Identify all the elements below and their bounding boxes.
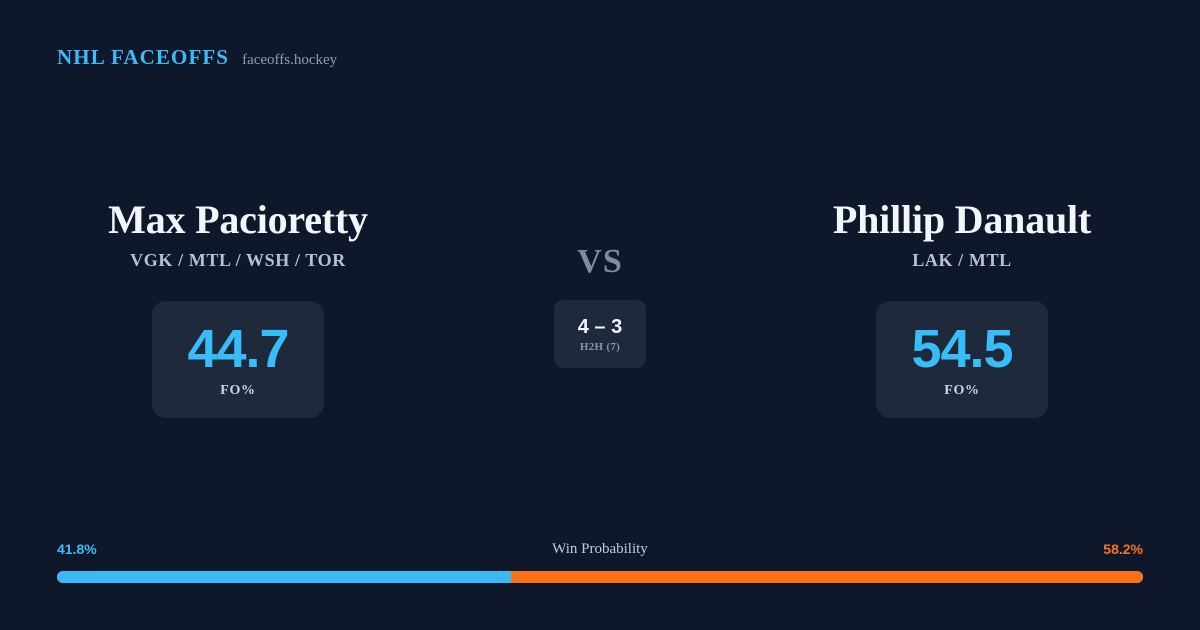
versus-label: VS	[577, 244, 622, 280]
player-card-left: Max Pacioretty VGK / MTL / WSH / TOR 44.…	[0, 196, 476, 418]
player-card-right: Phillip Danault LAK / MTL 54.5 FO%	[724, 196, 1200, 418]
player-name-right: Phillip Danault	[833, 196, 1091, 244]
matchup-graphic: NHL FACEOFFS faceoffs.hockey Max Paciore…	[0, 0, 1200, 630]
stat-card-right: 54.5 FO%	[876, 301, 1048, 418]
win-probability-right-percent: 58.2%	[1103, 541, 1143, 557]
head-to-head-score: 4 – 3	[578, 316, 622, 338]
head-to-head-card: 4 – 3 H2H (7)	[554, 300, 646, 368]
win-probability-bar-left-fill	[57, 571, 511, 583]
win-probability-bar-right-fill	[511, 571, 1143, 583]
faceoff-percent-value-right: 54.5	[911, 321, 1012, 377]
matchup-row: Max Pacioretty VGK / MTL / WSH / TOR 44.…	[0, 196, 1200, 418]
brand-logo-text: NHL FACEOFFS	[57, 45, 229, 70]
player-teams-right: LAK / MTL	[912, 250, 1011, 271]
stat-card-left: 44.7 FO%	[152, 301, 324, 418]
win-probability-labels: 41.8% Win Probability 58.2%	[57, 541, 1143, 561]
win-probability-section: 41.8% Win Probability 58.2%	[57, 541, 1143, 583]
faceoff-percent-value-left: 44.7	[187, 321, 288, 377]
player-name-left: Max Pacioretty	[108, 196, 368, 244]
win-probability-title: Win Probability	[57, 541, 1143, 558]
player-teams-left: VGK / MTL / WSH / TOR	[130, 250, 346, 271]
head-to-head-label: H2H (7)	[580, 341, 620, 353]
faceoff-percent-label-right: FO%	[944, 383, 980, 399]
faceoff-percent-label-left: FO%	[220, 383, 256, 399]
versus-column: VS 4 – 3 H2H (7)	[476, 196, 724, 368]
brand-header: NHL FACEOFFS faceoffs.hockey	[57, 45, 337, 70]
win-probability-bar	[57, 571, 1143, 583]
brand-domain-text: faceoffs.hockey	[242, 52, 337, 69]
